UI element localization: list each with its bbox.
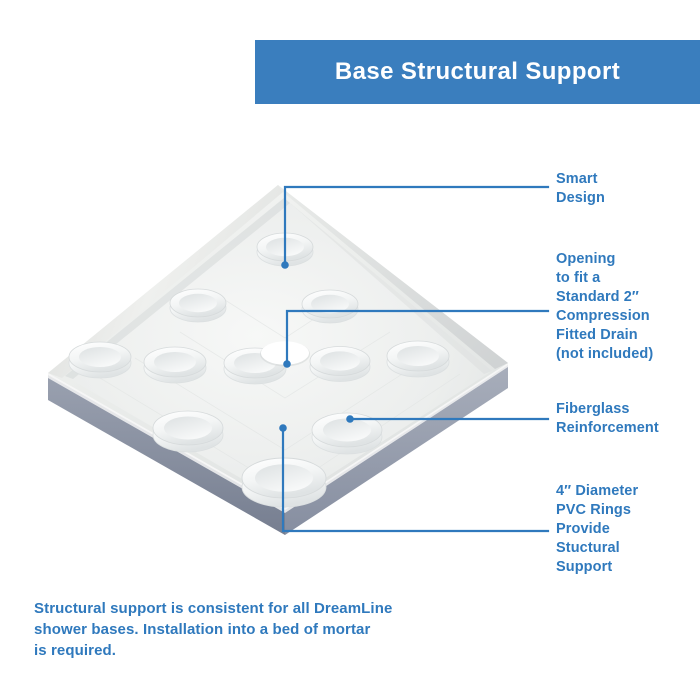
page-title: Base Structural Support [255, 40, 700, 104]
pvc-ring [153, 411, 223, 452]
product-illustration [40, 160, 520, 560]
pvc-ring [302, 290, 358, 323]
drain-hole-group [260, 341, 310, 366]
pvc-ring [69, 342, 131, 378]
pvc-ring [170, 289, 226, 322]
pvc-ring [387, 341, 449, 377]
pvc-ring [312, 413, 382, 454]
footer-note: Structural support is consistent for all… [34, 598, 494, 661]
pvc-ring [257, 233, 313, 266]
callout-label-fiberglass-reinforcement: Fiberglass Reinforcement [556, 400, 659, 438]
pvc-ring [242, 458, 326, 507]
header-banner: Base Structural Support [255, 40, 700, 104]
pvc-ring [144, 347, 206, 383]
callout-label-pvc-rings: 4″ Diameter PVC Rings Provide Stuctural … [556, 482, 638, 577]
callout-label-drain-opening: Opening to fit a Standard 2″ Compression… [556, 250, 653, 364]
shower-base-graphic [40, 160, 520, 560]
pvc-ring [310, 347, 370, 382]
callout-label-smart-design: Smart Design [556, 170, 605, 208]
infographic-page: Base Structural Support [0, 0, 700, 700]
